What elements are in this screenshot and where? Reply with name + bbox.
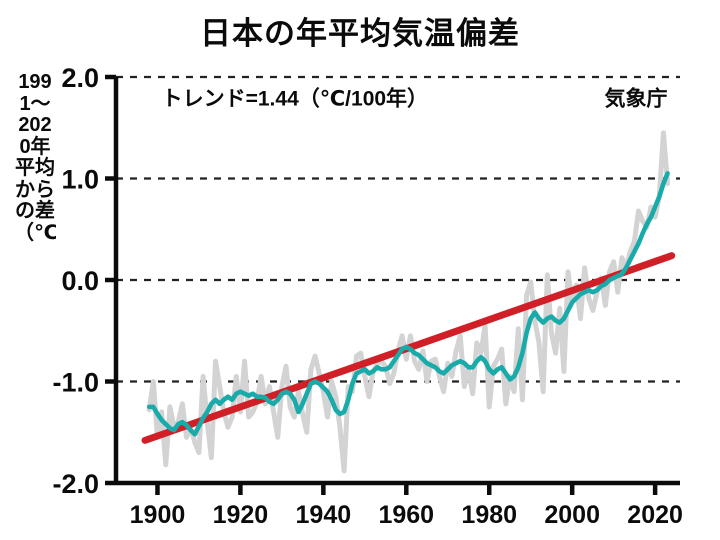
trend-annotation: トレンド=1.44（℃/100年） bbox=[162, 86, 428, 110]
y-tick-label: -2.0 bbox=[52, 469, 99, 499]
chart-page: 日本の年平均気温偏差 1991～2020年平均からの差（℃） 2.01.00.0… bbox=[0, 0, 720, 540]
x-tick-label: 2000 bbox=[544, 501, 600, 529]
x-tick-label: 1920 bbox=[213, 501, 269, 529]
x-tick-label: 1980 bbox=[461, 501, 517, 529]
y-tick-label: 0.0 bbox=[61, 266, 99, 296]
temperature-anomaly-chart: 2.01.00.0-1.0-2.0 1900192019401960198020… bbox=[0, 0, 720, 540]
y-tick-label: -1.0 bbox=[52, 368, 99, 398]
series-annual-anomaly bbox=[149, 133, 667, 471]
source-credit: 気象庁 bbox=[605, 86, 668, 110]
y-tick-label: 1.0 bbox=[61, 165, 99, 195]
y-tick-label: 2.0 bbox=[61, 63, 99, 93]
x-tick-labels: 1900192019401960198020002020 bbox=[130, 501, 683, 529]
x-tick-label: 1900 bbox=[130, 501, 186, 529]
x-tick-label: 1940 bbox=[296, 501, 352, 529]
x-tick-label: 1960 bbox=[378, 501, 434, 529]
footer-note bbox=[18, 531, 708, 540]
y-tick-labels: 2.01.00.0-1.0-2.0 bbox=[52, 63, 99, 499]
x-tick-label: 2020 bbox=[627, 501, 683, 529]
data-line bbox=[149, 133, 667, 471]
